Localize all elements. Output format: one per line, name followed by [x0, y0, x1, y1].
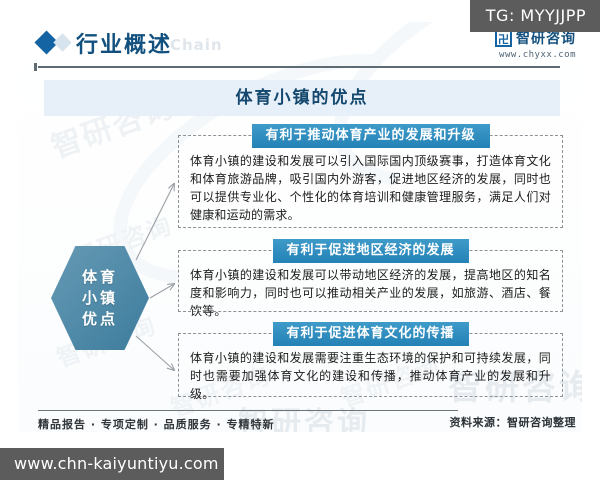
- footer-rule: [38, 410, 458, 411]
- tg-overlay-badge: TG: MYYJJPP: [470, 0, 600, 32]
- benefit-card: 有利于推动体育产业的发展和升级 体育小镇的建设和发展可以引入国际国内顶级赛事，打…: [178, 135, 563, 228]
- connector-line-2: [150, 284, 174, 298]
- hexagon-line-3: 优点: [82, 309, 118, 330]
- header-rule: [38, 66, 560, 68]
- footer-tagline: 精品报告 · 专项定制 · 品质服务 · 专精特新: [38, 416, 275, 432]
- footer-source: 资料来源：智研咨询整理: [450, 414, 577, 430]
- logo-url: www.chyxx.com: [495, 50, 576, 60]
- benefit-card-heading: 有利于促进体育文化的传播: [272, 322, 468, 346]
- hexagon-label: 体育 小镇 优点: [51, 246, 149, 350]
- slide-canvas: 智研咨询 智研咨询 智研咨询 智研咨询 智研咨询 智研咨询 智研咨询 行业概述 …: [18, 22, 582, 432]
- benefit-card-heading: 有利于推动体育产业的发展和升级: [251, 124, 489, 148]
- benefit-card: 有利于促进地区经济的发展 体育小镇的建设和发展可以带动地区经济的发展，提高地区的…: [178, 250, 563, 312]
- benefit-card: 有利于促进体育文化的传播 体育小镇的建设和发展需要注重生态环境的保护和可持续发展…: [178, 333, 563, 397]
- banner-title: 体育小镇的优点: [44, 80, 560, 116]
- diamond-secondary-icon: [53, 33, 71, 51]
- page-subtitle: Chain: [170, 36, 223, 54]
- logo-mark-icon: 卍: [495, 30, 512, 47]
- hexagon-shape: 体育 小镇 优点: [51, 246, 149, 350]
- brand-logo: 卍 智研咨询 www.chyxx.com: [495, 28, 576, 60]
- benefit-card-heading: 有利于促进地区经济的发展: [272, 239, 468, 263]
- hexagon-line-1: 体育: [82, 267, 118, 288]
- banner: 体育小镇的优点: [44, 80, 560, 116]
- benefit-card-body: 体育小镇的建设和发展可以引入国际国内顶级赛事，打造体育文化和体育旅游品牌，吸引国…: [179, 136, 562, 230]
- screenshot-root: 智研咨询 智研咨询 智研咨询 智研咨询 智研咨询 智研咨询 智研咨询 行业概述 …: [0, 0, 600, 480]
- hexagon-line-2: 小镇: [82, 288, 118, 309]
- header-rule-tail: [34, 63, 37, 71]
- page-title: 行业概述: [76, 27, 172, 59]
- url-overlay-badge: www.chn-kaiyuntiyu.com: [0, 448, 224, 480]
